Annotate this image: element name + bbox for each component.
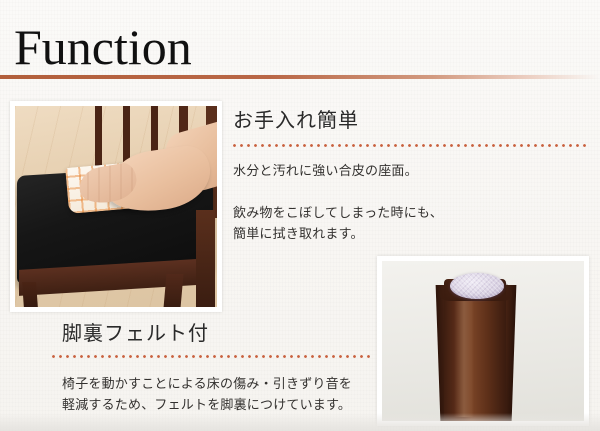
chair-seat-wiping-photo bbox=[15, 106, 217, 307]
chair-front-left-leg bbox=[22, 282, 38, 307]
dotted-divider-care bbox=[231, 144, 587, 147]
bottom-edge-strip bbox=[0, 413, 600, 431]
chair-back-right-leg bbox=[196, 210, 215, 307]
leg-highlight bbox=[454, 301, 474, 417]
section-body-felt: 椅子を動かすことによる床の傷み・引きずり音を 軽減するため、フェルトを脚裏につけ… bbox=[62, 373, 372, 415]
felt-texture bbox=[450, 273, 504, 299]
chair-seat-wiping-photo-frame bbox=[10, 101, 222, 312]
page-title: Function bbox=[14, 20, 192, 74]
chair-front-right-leg bbox=[164, 274, 184, 307]
felt-pad bbox=[450, 273, 504, 299]
section-body-care: 水分と汚れに強い合皮の座面。 飲み物をこぼしてしまった時にも、 簡単に拭き取れま… bbox=[233, 160, 563, 244]
title-underline-rule bbox=[0, 75, 600, 79]
dotted-divider-felt bbox=[50, 355, 372, 358]
section-heading-felt: 脚裏フェルト付 bbox=[62, 321, 209, 347]
chair-leg-felt-pad-photo bbox=[382, 261, 584, 421]
chair-leg-felt-pad-photo-frame bbox=[377, 256, 589, 426]
function-feature-page: Function お手入れ簡単 水分と汚れに強い合皮の座面。 飲み物をこぼしてし… bbox=[0, 0, 600, 431]
section-heading-care: お手入れ簡単 bbox=[233, 108, 359, 134]
